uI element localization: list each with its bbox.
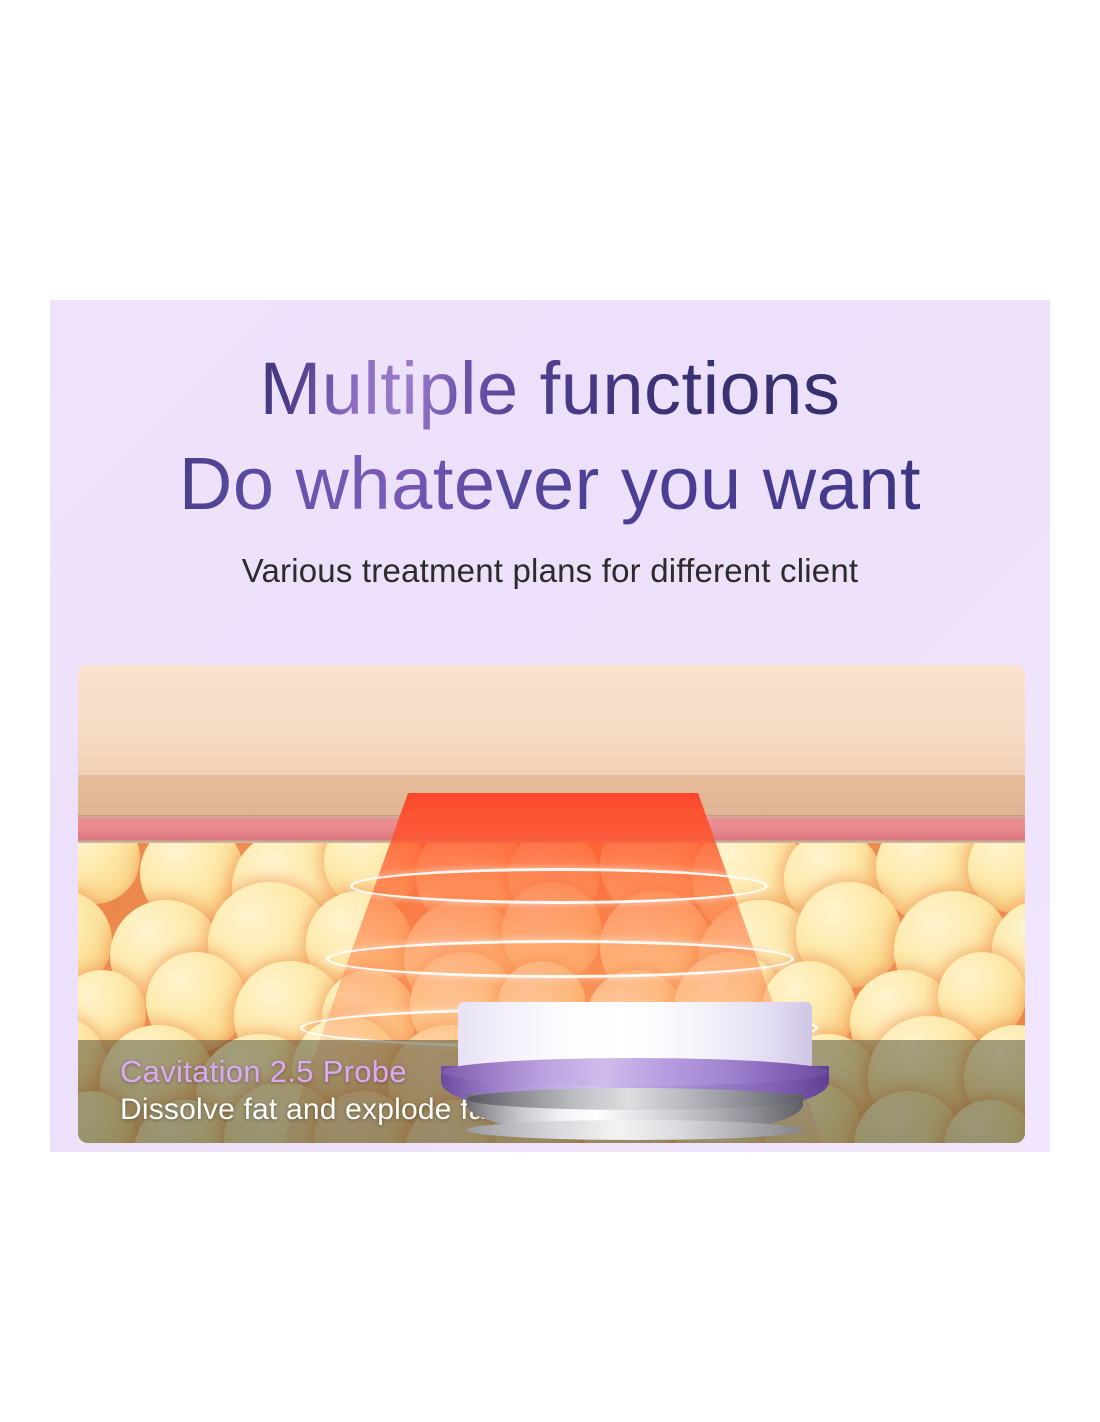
heading-block: Multiple functions Do whatever you want …: [50, 300, 1050, 590]
probe-metal-bottom-edge: [467, 1120, 803, 1140]
vascular-layer: [78, 818, 1025, 840]
cavitation-wave-ring: [350, 868, 768, 904]
probe-metal-top-ellipse: [467, 1088, 803, 1110]
cavitation-probe-device: [441, 1002, 829, 1130]
fat-cell: [78, 843, 140, 904]
headline-primary: Multiple functions: [50, 348, 1050, 431]
epidermis-layer: [78, 665, 1025, 775]
headline-secondary: Do whatever you want: [50, 443, 1050, 526]
subheadline: Various treatment plans for different cl…: [50, 552, 1050, 590]
probe-collar-top-ellipse: [441, 1058, 829, 1086]
promo-card: Multiple functions Do whatever you want …: [50, 300, 1050, 1152]
skin-cross-section-illustration: Cavitation 2.5 Probe Dissolve fat and ex…: [78, 665, 1025, 1143]
dermis-layer: [78, 775, 1025, 815]
cavitation-wave-ring: [326, 940, 794, 978]
